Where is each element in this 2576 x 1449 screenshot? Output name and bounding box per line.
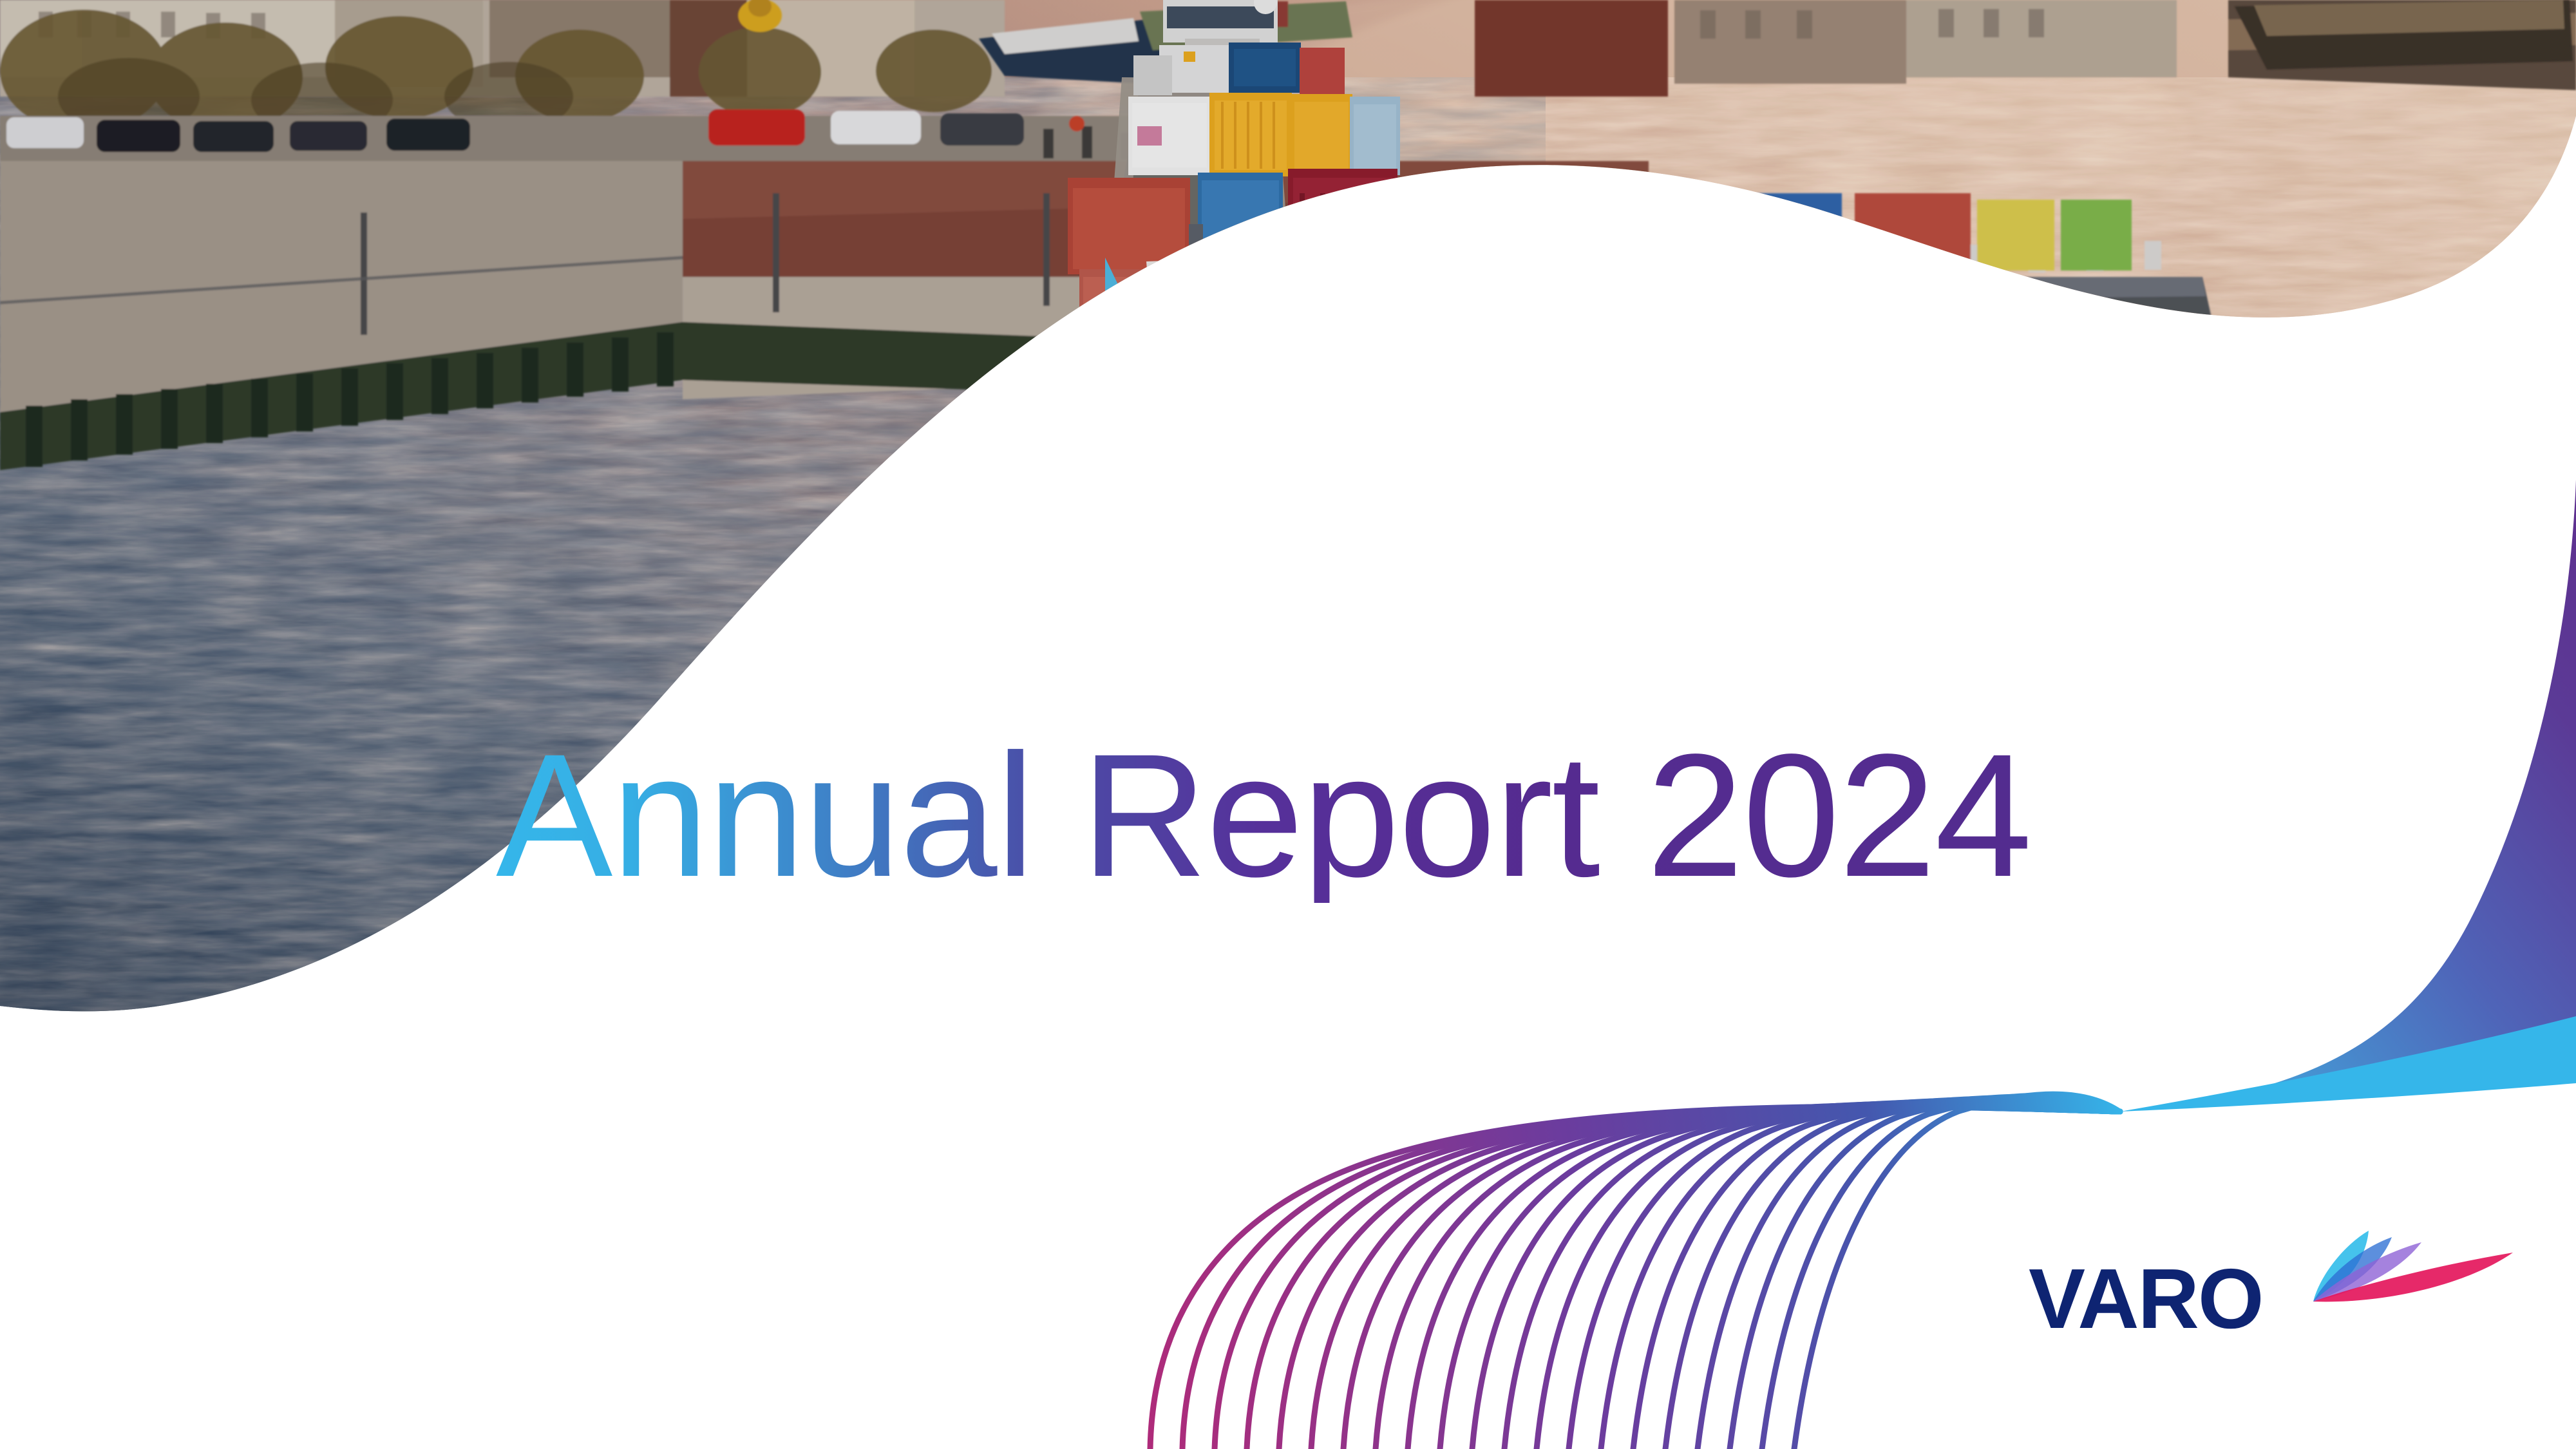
annual-report-cover-page: Annual Report 2024 VARO — [0, 0, 2576, 1449]
varo-flame-mark — [2313, 1231, 2513, 1302]
varo-logo[interactable]: VARO — [0, 0, 2576, 1449]
varo-wordmark: VARO — [2029, 1251, 2263, 1346]
